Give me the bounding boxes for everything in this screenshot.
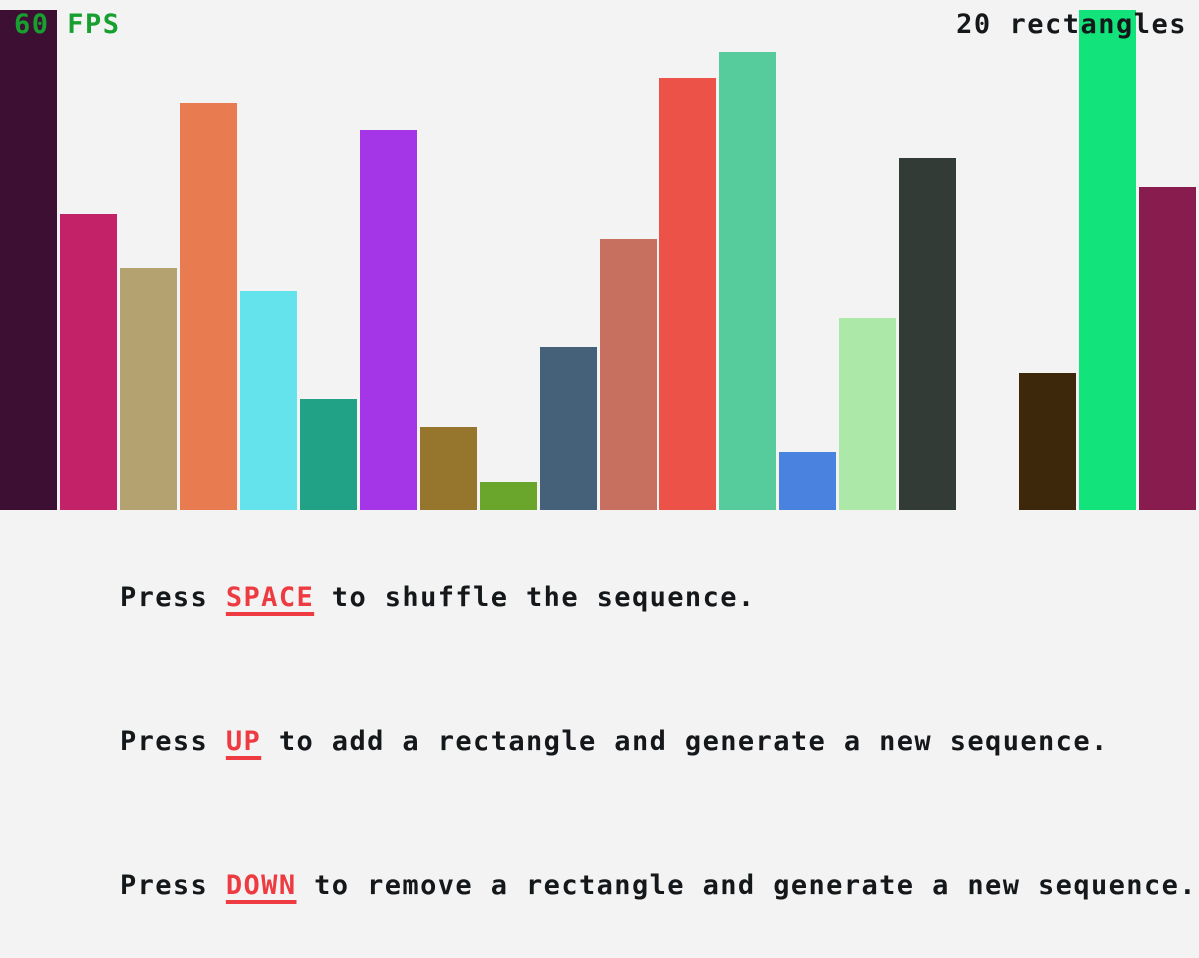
instruction-prefix: Press	[120, 726, 226, 757]
key-down[interactable]: DOWN	[226, 870, 297, 901]
bar-rect	[120, 268, 177, 510]
bar-rect	[839, 318, 896, 510]
instruction-suffix: to remove a rectangle and generate a new…	[297, 870, 1197, 901]
instruction-suffix: to shuffle the sequence.	[314, 582, 755, 613]
bar-rect	[60, 214, 117, 510]
rectangle-count-label: 20 rectangles	[956, 10, 1187, 40]
fps-counter: 60 FPS	[14, 10, 121, 40]
bar-rect	[300, 399, 357, 510]
instruction-suffix: to add a rectangle and generate a new se…	[261, 726, 1108, 757]
bar-rect	[0, 10, 57, 510]
bar-rect	[600, 239, 657, 510]
bar-rect	[360, 130, 417, 510]
instruction-line-down: Press DOWN to remove a rectangle and gen…	[14, 814, 1199, 958]
instruction-prefix: Press	[120, 870, 226, 901]
rectangle-sequence-app: 60 FPS 20 rectangles Press SPACE to shuf…	[0, 0, 1199, 675]
bar-rect	[1079, 10, 1136, 510]
bar-rect	[480, 482, 537, 510]
bar-rect	[540, 347, 597, 510]
bar-rect	[659, 78, 716, 510]
bar-rect	[420, 427, 477, 510]
bar-rect	[779, 452, 836, 510]
bar-rect	[1019, 373, 1076, 510]
instruction-prefix: Press	[120, 582, 226, 613]
bar-rect	[240, 291, 297, 510]
bar-rect	[1139, 187, 1196, 510]
instruction-line-space: Press SPACE to shuffle the sequence.	[14, 526, 1199, 670]
bar-rect	[180, 103, 237, 510]
key-up[interactable]: UP	[226, 726, 261, 757]
bar-rect	[719, 52, 776, 510]
instruction-line-up: Press UP to add a rectangle and generate…	[14, 670, 1199, 814]
key-space[interactable]: SPACE	[226, 582, 314, 613]
bar-chart-canvas	[0, 0, 1199, 510]
instructions-panel: Press SPACE to shuffle the sequence. Pre…	[0, 512, 1199, 675]
bar-rect	[899, 158, 956, 510]
